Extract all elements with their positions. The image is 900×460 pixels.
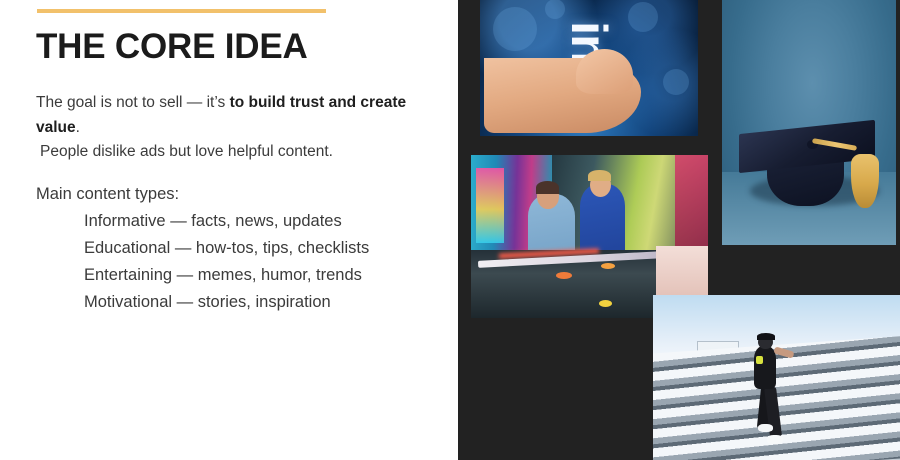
player-left-hair xyxy=(536,181,559,194)
page-title: THE CORE IDEA xyxy=(36,26,436,68)
arcade-air-hockey-photo xyxy=(471,155,708,318)
bokeh-circle xyxy=(663,69,689,95)
content-type-label-informative: Informative — facts, news, updates xyxy=(84,212,342,230)
runner-cap xyxy=(757,333,776,340)
runner-shoe xyxy=(767,435,783,443)
content-type-label-educational: Educational — how-tos, tips, checklists xyxy=(84,239,369,257)
player-right-hair xyxy=(588,170,611,181)
air-hockey-paddle xyxy=(556,272,572,279)
arcade-machine-lights xyxy=(476,168,504,243)
accent-rule-divider xyxy=(37,9,326,13)
gold-tassel xyxy=(851,154,879,208)
content-type-label-motivational: Motivational — stories, inspiration xyxy=(84,293,331,311)
bokeh-circle xyxy=(493,7,537,51)
content-types-block: Main content types: Informative — facts,… xyxy=(36,181,436,316)
intro-paragraph-block: The goal is not to sell — it’s to build … xyxy=(36,91,410,165)
intro-text-period: . xyxy=(76,119,80,136)
intro-text-lead: The goal is not to sell — it’s xyxy=(36,94,230,111)
content-type-item-entertaining: Entertaining — memes, humor, trends xyxy=(36,262,436,289)
content-types-heading: Main content types: xyxy=(36,181,436,208)
hand-thumb-shape xyxy=(576,49,633,94)
content-type-item-informative: Informative — facts, news, updates xyxy=(36,208,436,235)
intro-paragraph: The goal is not to sell — it’s to build … xyxy=(36,91,410,140)
content-type-item-educational: Educational — how-tos, tips, checklists xyxy=(36,235,436,262)
info-in-hand-photo: info xyxy=(480,0,698,136)
left-text-column: THE CORE IDEA The goal is not to sell — … xyxy=(0,0,458,460)
runner-bib xyxy=(756,356,763,364)
bokeh-circle xyxy=(628,2,658,32)
content-type-item-motivational: Motivational — stories, inspiration xyxy=(36,289,436,316)
runner-torso xyxy=(754,346,776,389)
yellow-puck xyxy=(599,300,612,307)
intro-secondary-line: People dislike ads but love helpful cont… xyxy=(36,140,410,165)
content-type-label-entertaining: Entertaining — memes, humor, trends xyxy=(84,266,362,284)
stadium-stairs-runner-photo xyxy=(653,295,900,460)
image-collage-panel: info xyxy=(458,0,900,460)
bokeh-circle xyxy=(545,0,565,19)
graduation-cap-photo xyxy=(722,0,896,245)
slide-canvas: THE CORE IDEA The goal is not to sell — … xyxy=(0,0,900,460)
runner-shoe xyxy=(758,424,773,432)
